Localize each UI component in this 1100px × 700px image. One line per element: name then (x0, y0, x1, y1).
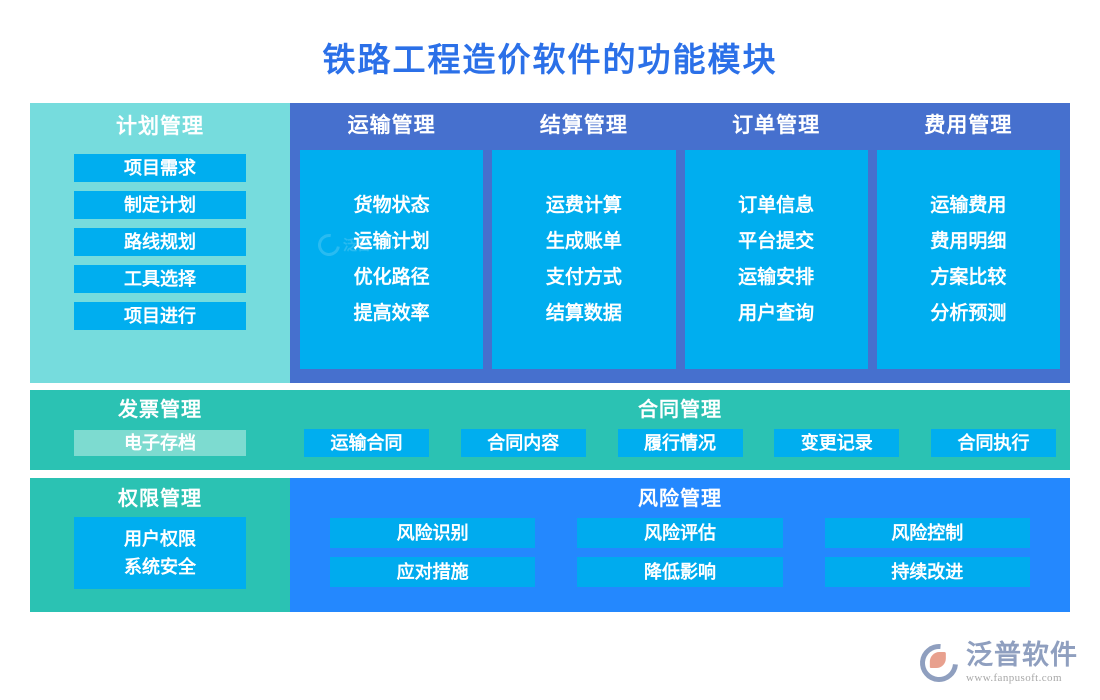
panel-title-transport-management: 运输管理 (300, 115, 483, 136)
brand-url: www.fanpusoft.com (966, 672, 1078, 684)
panel-title-cost-management: 费用管理 (877, 115, 1060, 136)
panel-title-settlement-management: 结算管理 (492, 115, 675, 136)
brand-logo: 泛普软件 www.fanpusoft.com (920, 642, 1078, 684)
panel-title-order-management: 订单管理 (685, 115, 868, 136)
transport-item-2[interactable]: 优化路径 (354, 268, 430, 287)
cost-item-2[interactable]: 方案比较 (930, 268, 1006, 287)
settlement-item-2[interactable]: 支付方式 (546, 268, 622, 287)
infographic-root: 铁路工程造价软件的功能模块 计划管理 项目需求 制定计划 路线规划 工具选择 项… (0, 0, 1100, 700)
permission-item-box: 用户权限 系统安全 (74, 517, 246, 589)
plan-item-2[interactable]: 路线规划 (74, 228, 246, 256)
contract-item-3[interactable]: 变更记录 (774, 429, 899, 457)
panel-title-plan-management: 计划管理 (30, 116, 290, 137)
panel-risk-management: 风险管理 风险识别 风险评估 风险控制 应对措施 降低影响 持续改进 (290, 478, 1070, 612)
cost-item-1[interactable]: 费用明细 (930, 232, 1006, 251)
contract-item-2[interactable]: 履行情况 (618, 429, 743, 457)
panel-title-invoice-management: 发票管理 (30, 400, 290, 420)
order-item-2[interactable]: 运输安排 (738, 268, 814, 287)
cost-item-3[interactable]: 分析预测 (930, 304, 1006, 323)
core-box-settlement: 运费计算 生成账单 支付方式 结算数据 (492, 150, 675, 369)
transport-item-1[interactable]: 运输计划 (354, 232, 430, 251)
brand-name: 泛普软件 (966, 642, 1078, 669)
risk-item-2[interactable]: 风险控制 (825, 518, 1030, 548)
core-column-settlement: 结算管理 运费计算 生成账单 支付方式 结算数据 (492, 115, 675, 369)
panel-core-modules: 运输管理 货物状态 运输计划 优化路径 提高效率 结算管理 运费计算 生成账单 … (290, 103, 1070, 383)
fanpu-swoosh-icon (912, 636, 966, 690)
plan-item-0[interactable]: 项目需求 (74, 154, 246, 182)
plan-item-4[interactable]: 项目进行 (74, 302, 246, 330)
panel-title-permission-management: 权限管理 (30, 489, 290, 509)
core-column-cost: 费用管理 运输费用 费用明细 方案比较 分析预测 (877, 115, 1060, 369)
core-box-order: 订单信息 平台提交 运输安排 用户查询 (685, 150, 868, 369)
contract-item-list: 运输合同 合同内容 履行情况 变更记录 合同执行 (290, 420, 1070, 457)
permission-item-1[interactable]: 系统安全 (124, 558, 196, 576)
page-title: 铁路工程造价软件的功能模块 (0, 33, 1100, 81)
panel-invoice-management: 发票管理 电子存档 (30, 390, 290, 470)
core-box-transport: 货物状态 运输计划 优化路径 提高效率 (300, 150, 483, 369)
panel-plan-management: 计划管理 项目需求 制定计划 路线规划 工具选择 项目进行 (30, 103, 290, 383)
risk-item-5[interactable]: 持续改进 (825, 557, 1030, 587)
risk-item-4[interactable]: 降低影响 (577, 557, 782, 587)
core-box-cost: 运输费用 费用明细 方案比较 分析预测 (877, 150, 1060, 369)
panel-permission-management: 权限管理 用户权限 系统安全 (30, 478, 290, 612)
plan-item-3[interactable]: 工具选择 (74, 265, 246, 293)
core-column-group: 运输管理 货物状态 运输计划 优化路径 提高效率 结算管理 运费计算 生成账单 … (290, 103, 1070, 383)
order-item-1[interactable]: 平台提交 (738, 232, 814, 251)
plan-item-list: 项目需求 制定计划 路线规划 工具选择 项目进行 (74, 154, 246, 330)
settlement-item-3[interactable]: 结算数据 (546, 304, 622, 323)
contract-item-1[interactable]: 合同内容 (461, 429, 586, 457)
contract-item-0[interactable]: 运输合同 (304, 429, 429, 457)
cost-item-0[interactable]: 运输费用 (930, 196, 1006, 215)
core-column-transport: 运输管理 货物状态 运输计划 优化路径 提高效率 (300, 115, 483, 369)
contract-item-4[interactable]: 合同执行 (931, 429, 1056, 457)
settlement-item-0[interactable]: 运费计算 (546, 196, 622, 215)
core-column-order: 订单管理 订单信息 平台提交 运输安排 用户查询 (685, 115, 868, 369)
permission-item-0[interactable]: 用户权限 (124, 530, 196, 548)
risk-item-3[interactable]: 应对措施 (330, 557, 535, 587)
order-item-3[interactable]: 用户查询 (738, 304, 814, 323)
panel-title-contract-management: 合同管理 (290, 400, 1070, 420)
transport-item-3[interactable]: 提高效率 (354, 304, 430, 323)
brand-text-group: 泛普软件 www.fanpusoft.com (966, 642, 1078, 684)
plan-item-1[interactable]: 制定计划 (74, 191, 246, 219)
transport-item-0[interactable]: 货物状态 (354, 196, 430, 215)
panel-contract-management: 合同管理 运输合同 合同内容 履行情况 变更记录 合同执行 (290, 390, 1070, 470)
risk-item-0[interactable]: 风险识别 (330, 518, 535, 548)
risk-item-1[interactable]: 风险评估 (577, 518, 782, 548)
order-item-0[interactable]: 订单信息 (738, 196, 814, 215)
panel-title-risk-management: 风险管理 (290, 489, 1070, 509)
settlement-item-1[interactable]: 生成账单 (546, 232, 622, 251)
invoice-item-0[interactable]: 电子存档 (74, 430, 246, 456)
risk-item-grid: 风险识别 风险评估 风险控制 应对措施 降低影响 持续改进 (290, 518, 1070, 587)
